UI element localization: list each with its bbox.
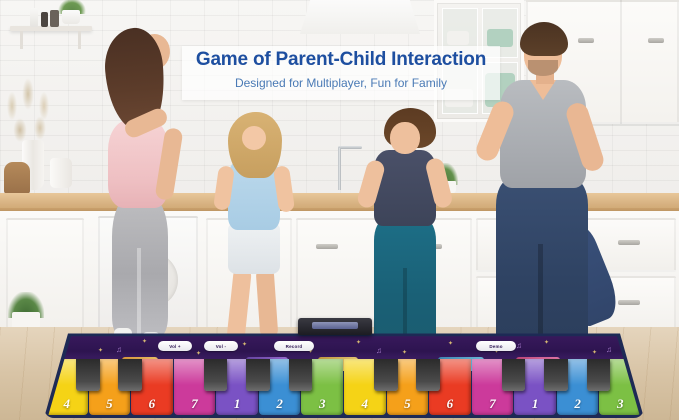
cabinet-dish <box>447 31 469 45</box>
piano-key-black[interactable] <box>118 359 142 391</box>
cabinet-handle <box>618 300 640 305</box>
piano-key-black[interactable] <box>204 359 228 391</box>
piano-key-black[interactable] <box>76 359 100 391</box>
piano-key-number: 2 <box>259 396 301 412</box>
piano-key-black[interactable] <box>416 359 440 391</box>
person-girl <box>214 112 296 362</box>
band-star-icon: ✦ <box>196 350 201 357</box>
faucet-arm <box>338 146 362 149</box>
marketing-text-panel: Game of Parent-Child Interaction Designe… <box>182 46 500 100</box>
band-star-icon: ✦ <box>402 349 407 356</box>
band-music-note-icon: ♫ <box>376 346 382 355</box>
band-star-icon: ✦ <box>142 338 147 345</box>
boy-face <box>390 122 420 154</box>
cabinet-handle <box>618 240 640 245</box>
kettle <box>50 158 72 188</box>
piano-key-black[interactable] <box>587 359 611 391</box>
girl-face <box>242 126 266 150</box>
girl-shorts <box>228 224 280 274</box>
band-music-note-icon: ♫ <box>516 341 522 350</box>
band-star-icon: ✦ <box>356 339 361 346</box>
shelf-bracket <box>20 31 23 49</box>
shelf-jar <box>30 8 38 27</box>
piano-key-number: 4 <box>344 396 386 412</box>
mother-leg-separation <box>137 248 141 336</box>
band-star-icon: ✦ <box>592 349 597 356</box>
cabinet-seam <box>620 0 622 124</box>
cabinet-handle <box>316 244 338 249</box>
piano-key-number: 7 <box>472 396 514 412</box>
piano-key-number: 1 <box>514 396 556 412</box>
piano-key-number: 6 <box>131 396 173 412</box>
piano-key-number: 5 <box>387 396 429 412</box>
band-music-note-icon: ♫ <box>606 345 612 354</box>
subheadline-text: Designed for Multiplayer, Fun for Family <box>182 76 500 90</box>
piano-key-black[interactable] <box>374 359 398 391</box>
band-star-icon: ✦ <box>242 341 247 348</box>
shelf-bracket <box>78 31 81 49</box>
piano-key-number: 3 <box>599 396 641 412</box>
girl-leg <box>256 267 279 338</box>
mat-top-band <box>46 333 642 359</box>
mat-button-demo[interactable]: Demo <box>476 341 516 351</box>
piano-key-black[interactable] <box>502 359 526 391</box>
control-box-panel <box>312 322 358 329</box>
band-star-icon: ✦ <box>624 341 629 348</box>
mat-button-vol[interactable]: Vol - <box>204 341 238 351</box>
mat-control-box[interactable] <box>298 318 372 335</box>
piano-keys[interactable]: 45671234567123 <box>46 359 642 415</box>
shelf-plant-pot <box>62 10 80 24</box>
cutting-board <box>4 162 30 194</box>
piano-key-black[interactable] <box>289 359 313 391</box>
piano-key-number: 6 <box>429 396 471 412</box>
father-beard <box>528 60 558 76</box>
father-hair <box>520 22 568 56</box>
headline-text: Game of Parent-Child Interaction <box>182 49 500 71</box>
piano-key-number: 1 <box>216 396 258 412</box>
piano-key-black[interactable] <box>246 359 270 391</box>
piano-key-number: 2 <box>557 396 599 412</box>
faucet <box>338 148 341 190</box>
shelf-jar <box>41 12 48 27</box>
mat-button-record[interactable]: Record <box>274 341 314 351</box>
piano-key-black[interactable] <box>544 359 568 391</box>
piano-play-mat[interactable]: ✦✦✦✦✦✦✦✦✦✦✦✦✦♫♫♫♫♫ Vol +Vol -RecordDemo … <box>44 330 644 418</box>
range-hood <box>300 0 420 34</box>
band-star-icon: ✦ <box>544 339 549 346</box>
product-lifestyle-image: ✦✦✦✦✦✦✦✦✦✦✦✦✦♫♫♫♫♫ Vol +Vol -RecordDemo … <box>0 0 679 420</box>
mat-surface: ✦✦✦✦✦✦✦✦✦✦✦✦✦♫♫♫♫♫ Vol +Vol -RecordDemo … <box>46 333 642 415</box>
band-star-icon: ✦ <box>98 347 103 354</box>
band-music-note-icon: ♫ <box>116 345 122 354</box>
piano-key-number: 7 <box>174 396 216 412</box>
piano-key-number: 3 <box>301 396 343 412</box>
mat-button-vol[interactable]: Vol + <box>158 341 192 351</box>
cabinet-handle <box>648 38 664 43</box>
person-boy <box>362 108 458 366</box>
band-star-icon: ✦ <box>448 340 453 347</box>
piano-key-number: 5 <box>89 396 131 412</box>
